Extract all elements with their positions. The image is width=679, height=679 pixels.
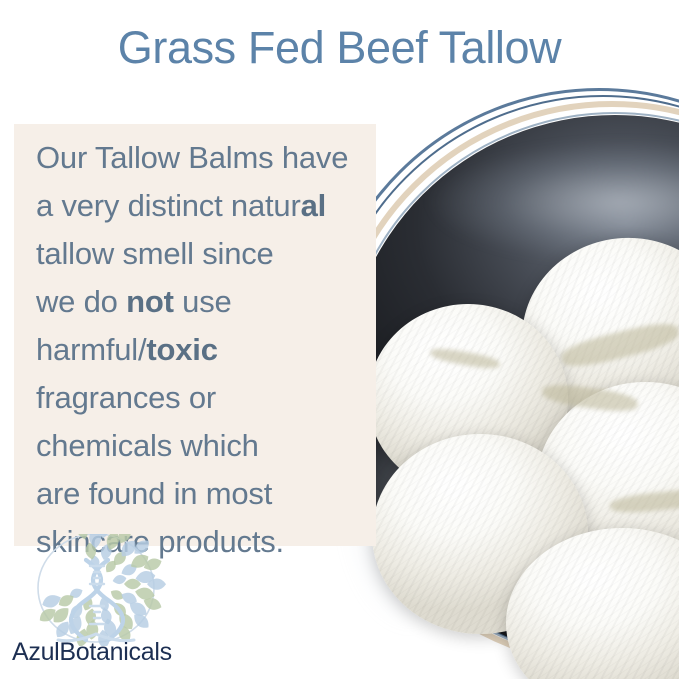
caption-line: we do not use bbox=[36, 278, 380, 326]
caption-run: use bbox=[174, 284, 232, 319]
caption-run: tallow smell since bbox=[36, 236, 274, 271]
tree-dna-circle-icon bbox=[20, 534, 172, 646]
caption-line: fragrances or bbox=[36, 374, 380, 422]
caption-line: a very distinct natural bbox=[36, 182, 380, 230]
brand-name: AzulBotanicals bbox=[12, 638, 172, 667]
caption-line: chemicals which bbox=[36, 422, 380, 470]
caption-text: Our Tallow Balms havea very distinct nat… bbox=[36, 134, 380, 566]
caption-emphasis: not bbox=[126, 284, 174, 319]
caption-emphasis: al bbox=[301, 188, 326, 223]
caption-panel: Our Tallow Balms havea very distinct nat… bbox=[14, 124, 376, 546]
caption-run: harmful/ bbox=[36, 332, 146, 367]
page-title: Grass Fed Beef Tallow bbox=[0, 22, 679, 74]
caption-run: fragrances or bbox=[36, 380, 216, 415]
caption-run: are found in most bbox=[36, 476, 272, 511]
caption-emphasis: toxic bbox=[146, 332, 217, 367]
caption-run: we do bbox=[36, 284, 126, 319]
caption-run: a very distinct natur bbox=[36, 188, 301, 223]
caption-line: are found in most bbox=[36, 470, 380, 518]
caption-line: Our Tallow Balms have bbox=[36, 134, 380, 182]
product-infographic-canvas: Grass Fed Beef Tallow Our Tallow Balms h… bbox=[0, 0, 679, 679]
caption-line: harmful/toxic bbox=[36, 326, 380, 374]
caption-line: tallow smell since bbox=[36, 230, 380, 278]
brand-logo[interactable]: AzulBotanicals bbox=[12, 534, 188, 679]
caption-run: Our Tallow Balms have bbox=[36, 140, 348, 175]
caption-run: chemicals which bbox=[36, 428, 259, 463]
